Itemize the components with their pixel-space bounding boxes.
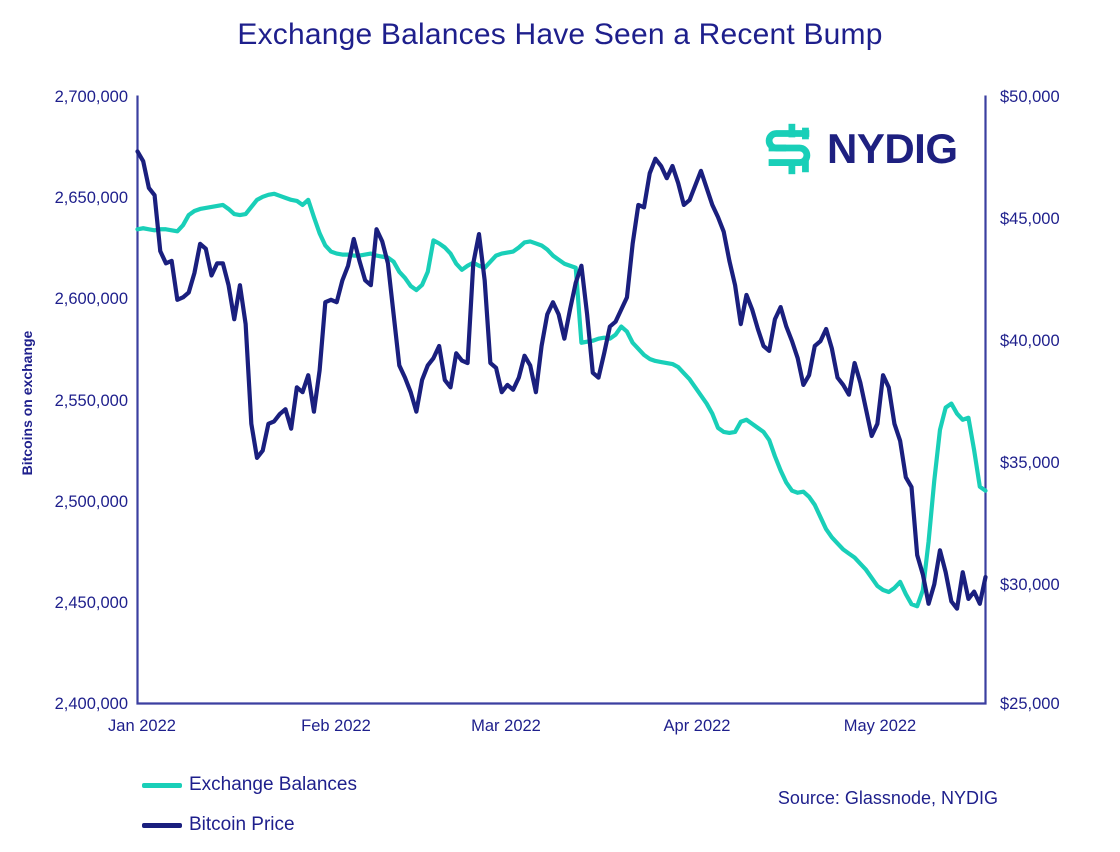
axis-frame bbox=[138, 96, 986, 704]
legend-item-bitcoin-price: Bitcoin Price bbox=[142, 805, 357, 845]
series-line-bitcoin-price bbox=[138, 151, 986, 608]
legend-swatch-bitcoin-price bbox=[142, 823, 182, 828]
source-note: Source: Glassnode, NYDIG bbox=[778, 788, 998, 809]
plot-area bbox=[0, 0, 1120, 852]
legend-label-bitcoin-price: Bitcoin Price bbox=[189, 814, 295, 836]
legend-label-exchange-balances: Exchange Balances bbox=[189, 774, 357, 796]
chart-legend: Exchange Balances Bitcoin Price bbox=[142, 765, 357, 845]
legend-item-exchange-balances: Exchange Balances bbox=[142, 765, 357, 805]
legend-swatch-exchange-balances bbox=[142, 783, 182, 788]
series-line-exchange-balances bbox=[138, 194, 986, 606]
chart-root: Exchange Balances Have Seen a Recent Bum… bbox=[0, 0, 1120, 852]
